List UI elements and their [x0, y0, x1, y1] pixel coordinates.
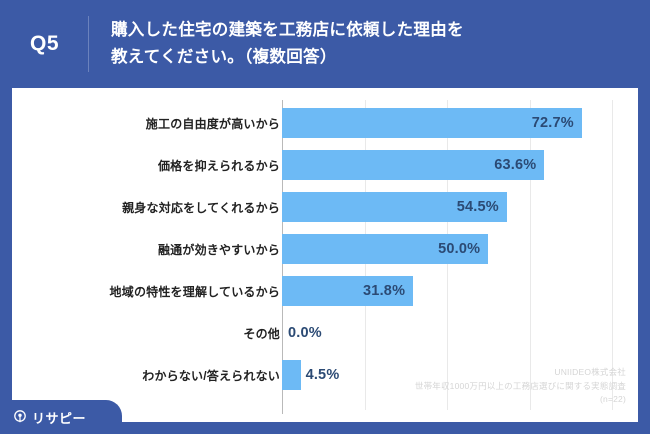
header-divider — [88, 16, 89, 72]
chart-bar-row: 価格を抑えられるから63.6% — [12, 150, 638, 180]
question-header: Q5 購入した住宅の建築を工務店に依頼した理由を 教えてください。（複数回答） — [0, 0, 650, 88]
bar-container: 0.0% — [282, 318, 283, 348]
location-pin-icon — [13, 410, 27, 424]
bar-container: 50.0% — [282, 234, 488, 264]
bar-category-label: その他 — [0, 325, 280, 342]
question-text: 購入した住宅の建築を工務店に依頼した理由を 教えてください。（複数回答） — [111, 17, 464, 71]
bar-category-label: 価格を抑えられるから — [0, 157, 280, 174]
chart-card: 施工の自由度が高いから72.7%価格を抑えられるから63.6%親身な対応をしてく… — [12, 88, 638, 422]
question-line-2: 教えてください。（複数回答） — [111, 44, 464, 71]
source-survey: 世帯年収1000万円以上の工務店選びに関する実態調査 — [415, 380, 626, 393]
chart-bar[interactable] — [282, 360, 301, 390]
brand-logo: リサピー — [0, 400, 122, 434]
bar-container: 63.6% — [282, 150, 544, 180]
source-note: UNIIDEO株式会社 世帯年収1000万円以上の工務店選びに関する実態調査 (… — [415, 366, 626, 406]
bar-category-label: 親身な対応をしてくれるから — [0, 199, 280, 216]
bar-value-label: 4.5% — [306, 367, 340, 383]
bar-value-label: 72.7% — [532, 115, 574, 131]
source-sample-size: (n=22) — [415, 393, 626, 406]
bar-category-label: わからない/答えられない — [0, 367, 280, 384]
bar-category-label: 地域の特性を理解しているから — [0, 283, 280, 300]
bar-value-label: 50.0% — [438, 241, 480, 257]
bar-container: 31.8% — [282, 276, 413, 306]
question-number: Q5 — [30, 32, 88, 56]
chart-bar-row: 地域の特性を理解しているから31.8% — [12, 276, 638, 306]
bar-value-label: 31.8% — [363, 283, 405, 299]
question-line-1: 購入した住宅の建築を工務店に依頼した理由を — [111, 17, 464, 44]
chart-bar-row: その他0.0% — [12, 318, 638, 348]
chart-bar-row: 施工の自由度が高いから72.7% — [12, 108, 638, 138]
bar-value-label: 63.6% — [494, 157, 536, 173]
bar-category-label: 施工の自由度が高いから — [0, 115, 280, 132]
chart-bar-row: 親身な対応をしてくれるから54.5% — [12, 192, 638, 222]
bar-value-label: 54.5% — [457, 199, 499, 215]
bar-category-label: 融通が効きやすいから — [0, 241, 280, 258]
chart-bar-row: 融通が効きやすいから50.0% — [12, 234, 638, 264]
bar-container: 72.7% — [282, 108, 582, 138]
bar-container: 4.5% — [282, 360, 301, 390]
bar-value-label: 0.0% — [288, 325, 322, 341]
source-company: UNIIDEO株式会社 — [415, 366, 626, 379]
brand-logo-text: リサピー — [32, 408, 86, 427]
bar-container: 54.5% — [282, 192, 507, 222]
